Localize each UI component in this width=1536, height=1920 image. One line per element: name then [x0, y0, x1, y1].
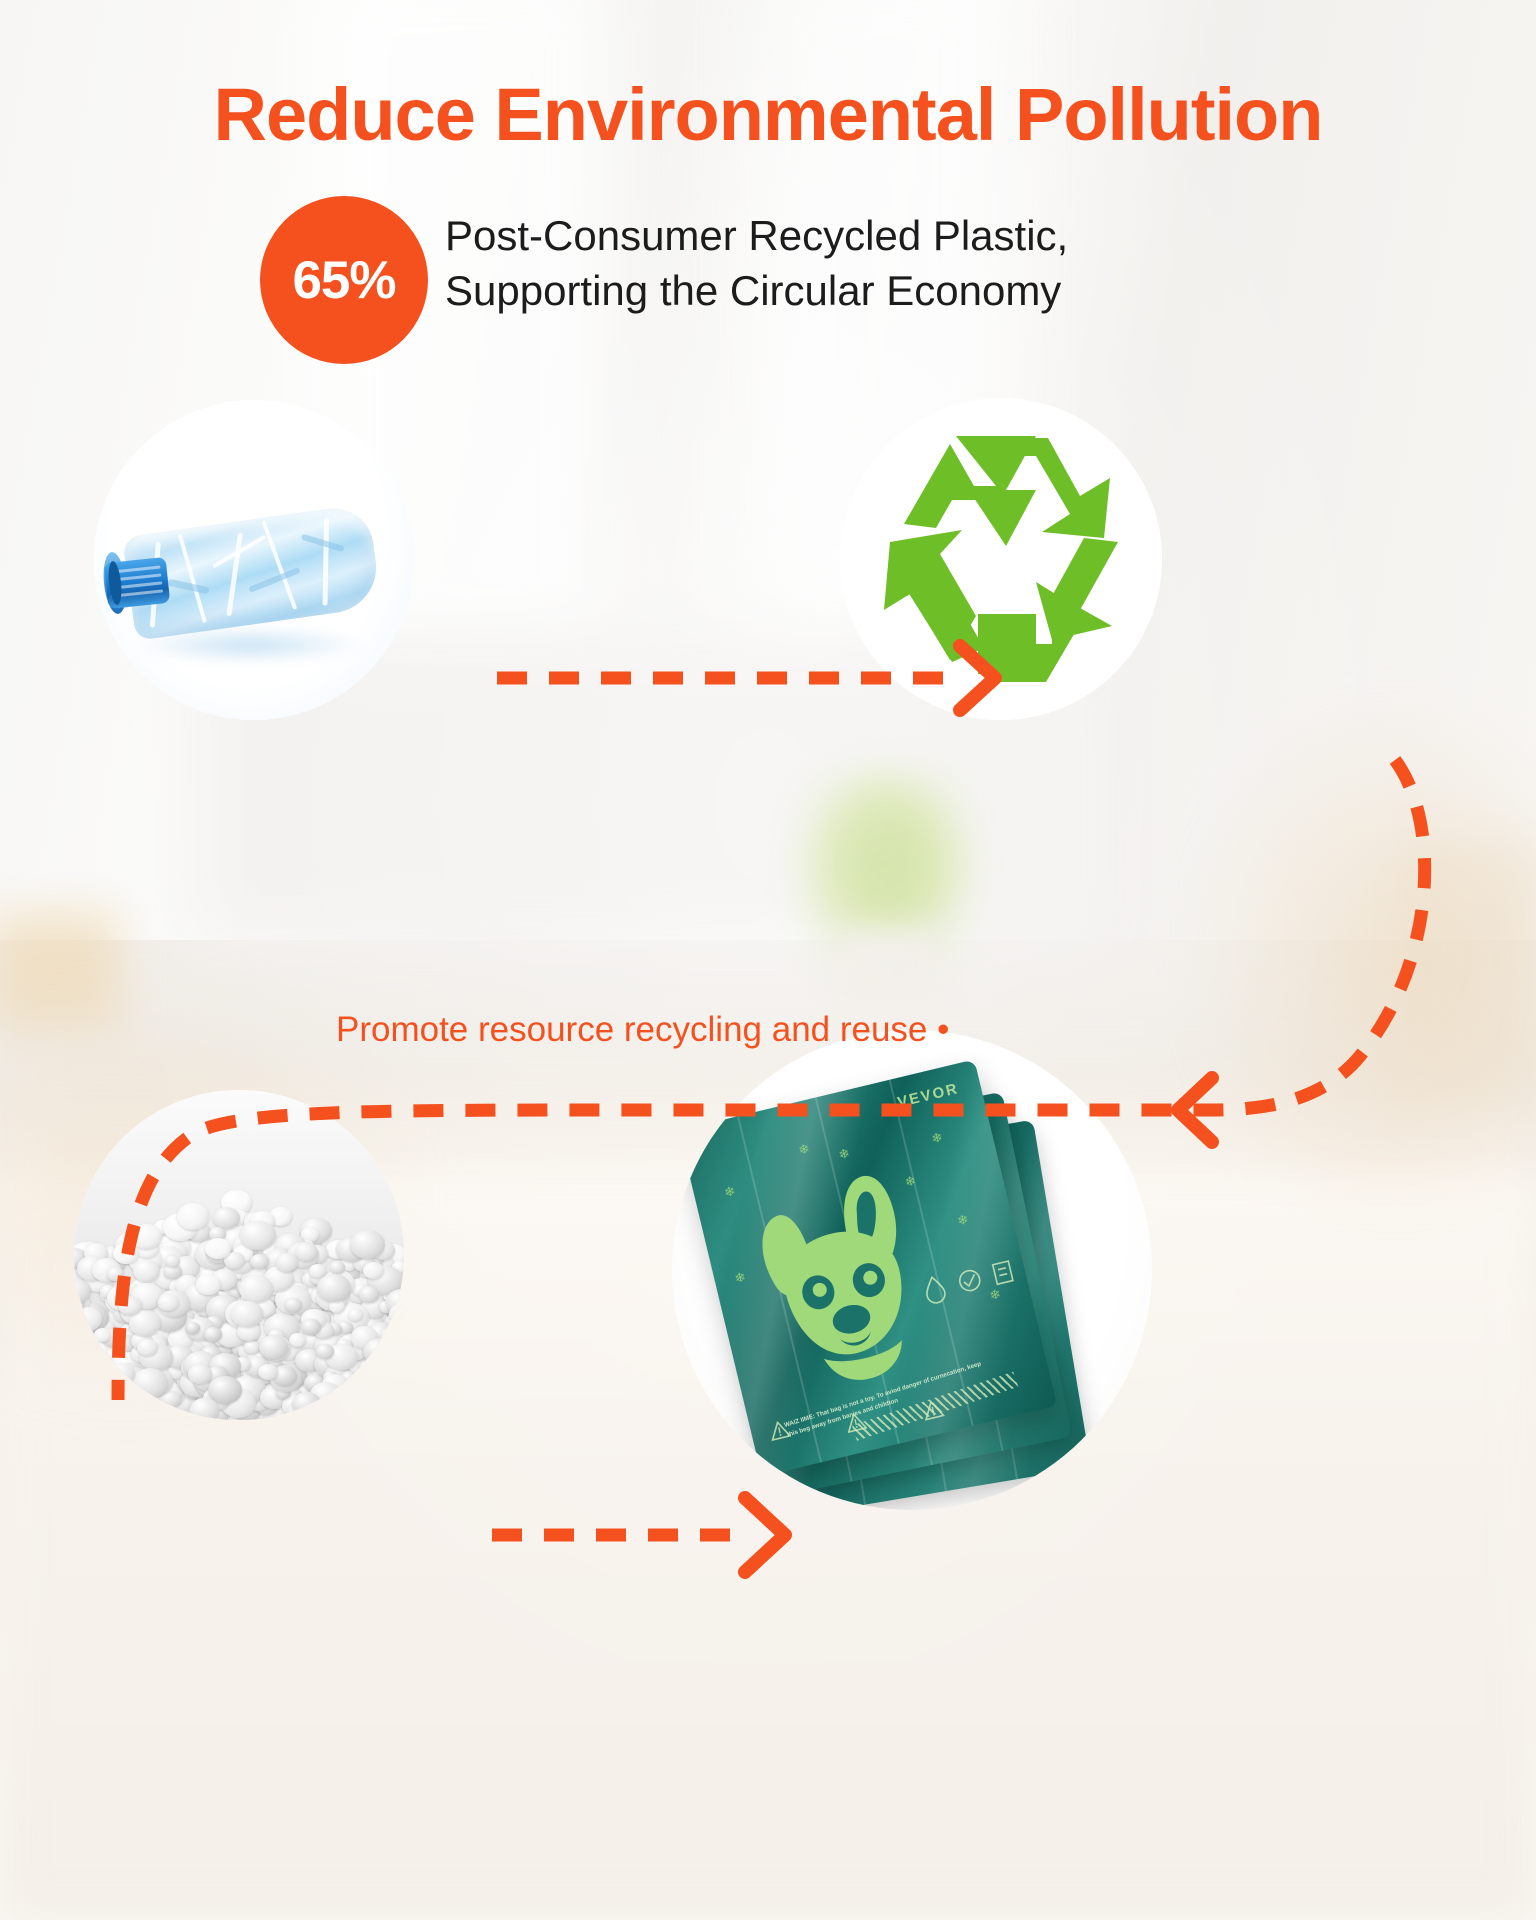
arrow-recycle-to-pellets — [118, 760, 1425, 1400]
flow-arrows — [0, 0, 1536, 1920]
arrow-bottle-to-recycle — [497, 646, 995, 710]
flow-mid-label: Promote resource recycling and reuse • — [336, 1012, 949, 1047]
arrow-pellets-to-bags — [492, 1498, 785, 1572]
